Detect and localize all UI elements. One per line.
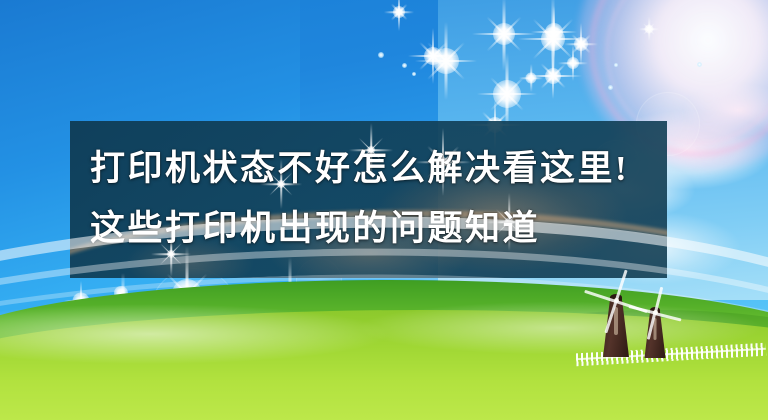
sparkle-dot-icon <box>614 63 618 67</box>
poster-image: 打印机状态不好怎么解决看这里!这些打印机出现的问题知道 <box>0 0 768 420</box>
windmill-window <box>614 307 618 335</box>
sparkle-dot-icon <box>697 62 702 67</box>
windmill-right <box>638 306 672 358</box>
sparkle-dot-icon <box>412 72 416 76</box>
windmill-left <box>596 293 636 357</box>
sparkle-dot-icon <box>378 52 384 58</box>
sparkle-dot-icon <box>402 63 407 68</box>
sparkle-dot-icon <box>608 85 613 90</box>
